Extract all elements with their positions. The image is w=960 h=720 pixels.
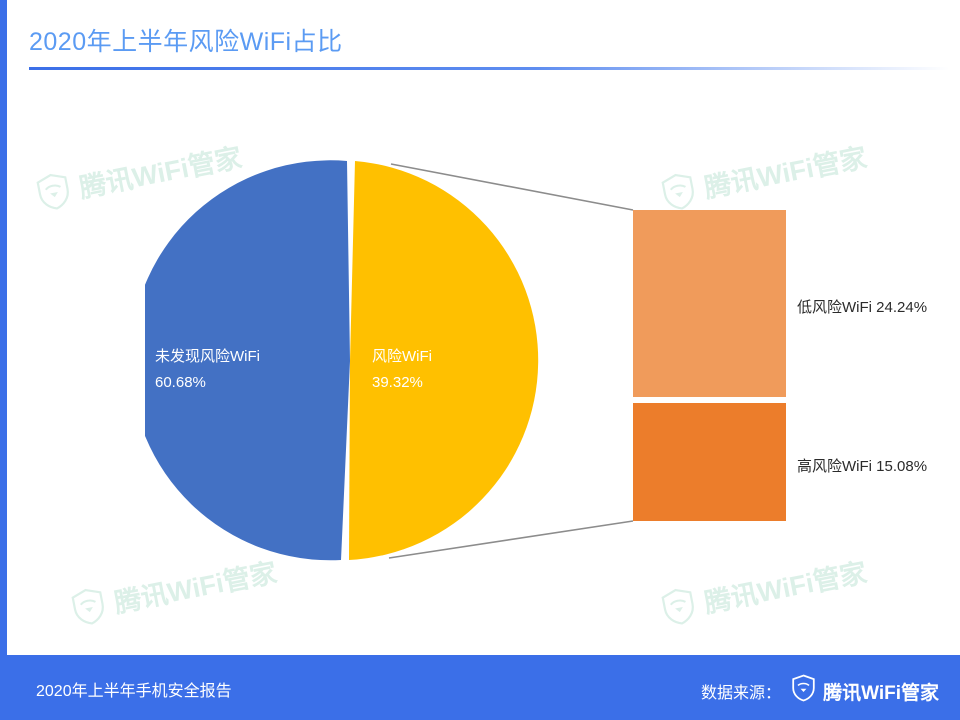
page-header: 2020年上半年风险WiFi占比 xyxy=(7,0,960,75)
title-divider xyxy=(29,67,949,70)
footer-report-title: 2020年上半年手机安全报告 xyxy=(36,677,232,701)
footer-brand: 腾讯WiFi管家 xyxy=(791,674,939,708)
page-title: 2020年上半年风险WiFi占比 xyxy=(29,22,343,58)
footer-brand-text: 腾讯WiFi管家 xyxy=(823,678,939,705)
footer-source-label: 数据来源： xyxy=(701,679,781,703)
footer-source-block: 数据来源： 腾讯WiFi管家 xyxy=(701,674,939,708)
bar-label-low-risk: 低风险WiFi 24.24% xyxy=(797,296,927,317)
bar-low-risk[interactable] xyxy=(633,210,786,397)
page-footer: 2020年上半年手机安全报告 数据来源： 腾讯WiFi管家 xyxy=(7,655,960,720)
breakout-bars: 低风险WiFi 24.24% 高风险WiFi 15.08% xyxy=(7,78,960,648)
chart-area: 未发现风险WiFi 60.68% 风险WiFi 39.32% 低风险WiFi 2… xyxy=(7,78,960,648)
report-page: 2020年上半年风险WiFi占比 腾讯WiFi管家 腾讯WiFi管家 xyxy=(0,0,960,720)
bar-high-risk[interactable] xyxy=(633,403,786,521)
tencent-wifi-shield-icon xyxy=(791,674,816,708)
bar-label-high-risk: 高风险WiFi 15.08% xyxy=(797,455,927,476)
